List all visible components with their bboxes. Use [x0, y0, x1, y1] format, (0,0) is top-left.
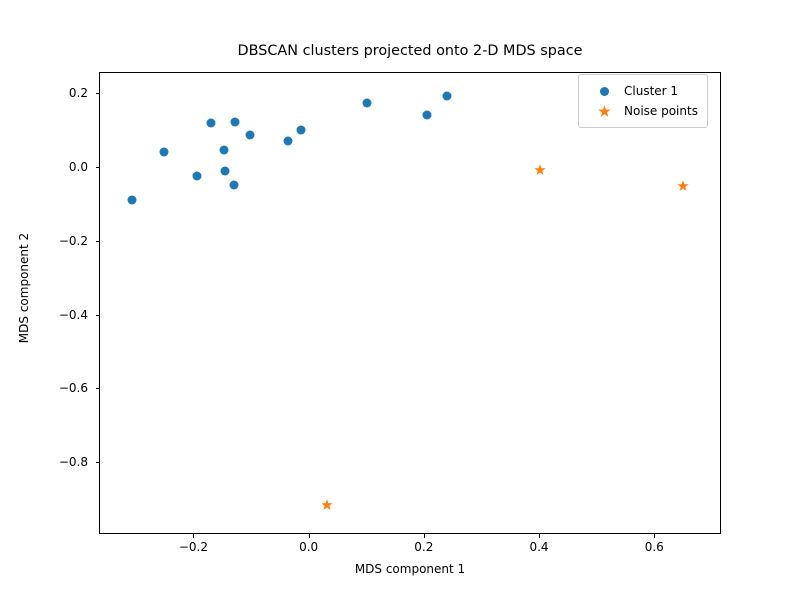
x-axis-tick: [193, 534, 194, 538]
scatter-point-circle: [207, 119, 216, 128]
y-axis-tick-label: −0.4: [0, 308, 88, 322]
y-axis-tick-label: 0.2: [0, 86, 88, 100]
x-axis-tick: [309, 534, 310, 538]
y-axis-tick-label: 0.0: [0, 160, 88, 174]
scatter-point-circle: [245, 131, 254, 140]
scatter-data-layer: [100, 73, 720, 533]
x-axis-tick: [539, 534, 540, 538]
y-axis-tick-label: −0.8: [0, 455, 88, 469]
y-axis-tick: [96, 388, 100, 389]
scatter-point-circle: [230, 118, 239, 127]
y-axis-tick: [96, 462, 100, 463]
x-axis-tick-label: 0.0: [299, 540, 318, 554]
x-axis-tick-label: 0.4: [529, 540, 548, 554]
scatter-point-circle: [363, 98, 372, 107]
y-axis-tick: [96, 93, 100, 94]
scatter-point-circle: [219, 145, 228, 154]
scatter-point-circle: [160, 147, 169, 156]
scatter-point-circle: [284, 136, 293, 145]
scatter-point-circle: [296, 125, 305, 134]
y-axis-tick-label: −0.6: [0, 381, 88, 395]
legend-label: Noise points: [621, 104, 698, 118]
legend-label: Cluster 1: [621, 84, 678, 98]
y-axis-tick: [96, 315, 100, 316]
y-axis-tick-label: −0.2: [0, 234, 88, 248]
y-axis-label: MDS component 2: [17, 168, 31, 408]
scatter-point-circle: [422, 111, 431, 120]
x-axis-tick: [654, 534, 655, 538]
x-axis-tick-label: −0.2: [179, 540, 208, 554]
plot-area: [99, 72, 721, 534]
scatter-point-circle: [230, 180, 239, 189]
x-axis-label: MDS component 1: [99, 562, 721, 576]
legend-marker-circle-icon: [587, 87, 621, 96]
scatter-point-circle: [128, 196, 137, 205]
scatter-point-star: [534, 164, 546, 176]
chart-title: DBSCAN clusters projected onto 2-D MDS s…: [99, 43, 721, 59]
x-axis-tick-label: 0.6: [645, 540, 664, 554]
y-axis-tick: [96, 241, 100, 242]
x-axis-tick-label: 0.2: [414, 540, 433, 554]
y-axis-tick: [96, 167, 100, 168]
chart-legend: Cluster 1 Noise points: [578, 74, 708, 128]
chart-figure: DBSCAN clusters projected onto 2-D MDS s…: [0, 0, 800, 600]
scatter-point-circle: [443, 92, 452, 101]
scatter-point-circle: [192, 172, 201, 181]
scatter-point-circle: [220, 167, 229, 176]
legend-marker-star-icon: [587, 105, 621, 118]
legend-item-cluster-1[interactable]: Cluster 1: [587, 81, 698, 101]
scatter-point-star: [321, 499, 333, 511]
legend-item-noise-points[interactable]: Noise points: [587, 101, 698, 121]
scatter-point-star: [677, 180, 689, 192]
x-axis-tick: [424, 534, 425, 538]
